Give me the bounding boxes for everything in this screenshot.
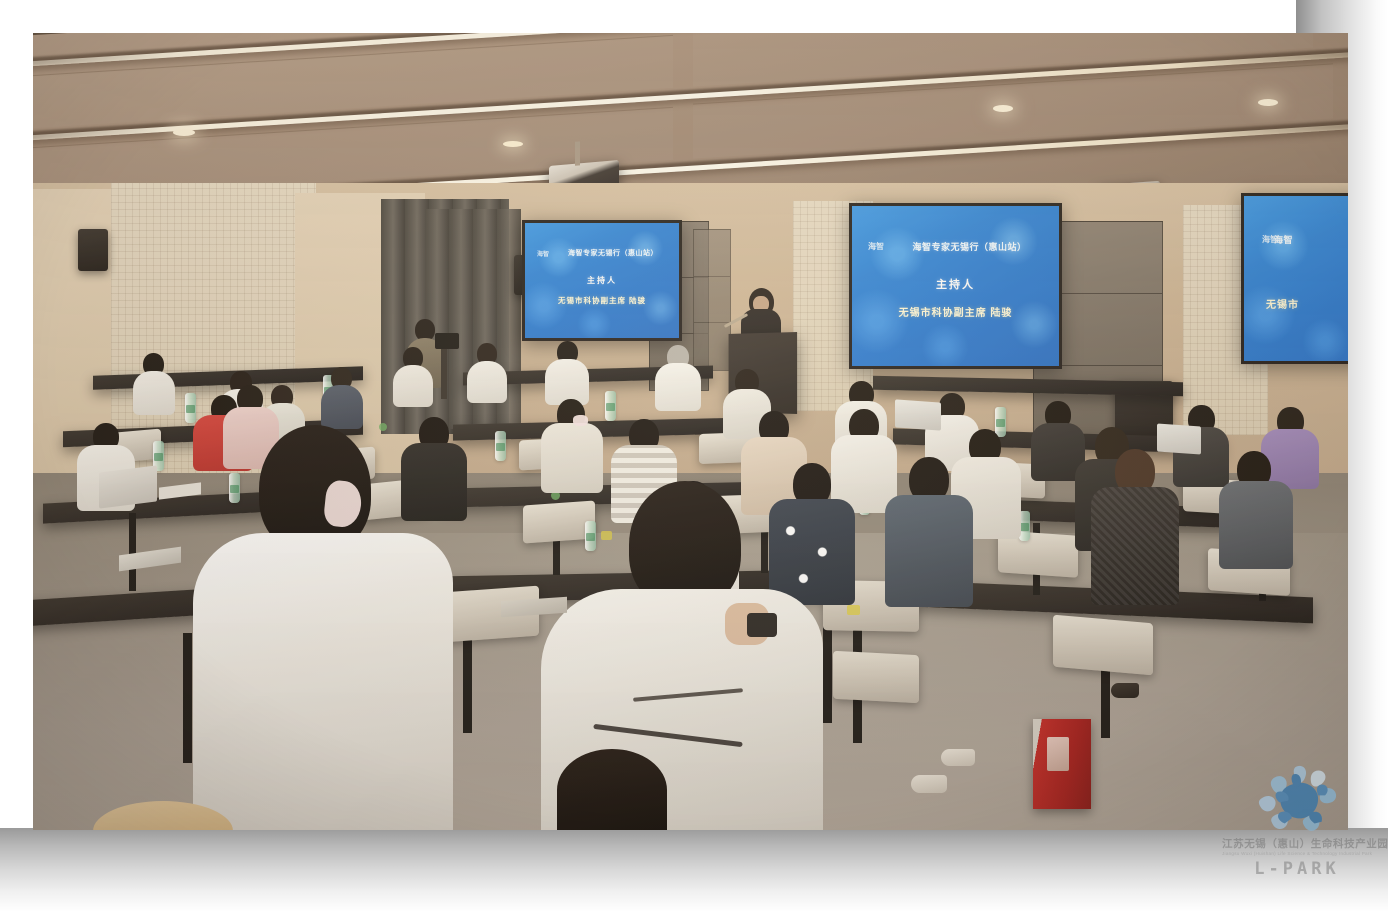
screen-presenter-name: 无锡市科协副主席 陆骏 xyxy=(852,304,1059,319)
watermark-brand: L-PARK xyxy=(1222,859,1372,880)
water-bottle xyxy=(495,431,506,461)
chair-back xyxy=(1053,615,1153,676)
screen-title: 海智专家无锡行（惠山站） xyxy=(852,240,1059,253)
laptop xyxy=(1157,423,1201,454)
face-mask xyxy=(573,415,588,426)
seat-number-sticker xyxy=(379,423,387,431)
screen-presenter-name: 无锡市科协副主席 陆骏 xyxy=(525,295,679,306)
ceiling-downlight xyxy=(503,141,523,147)
water-bottle xyxy=(229,473,240,503)
ceiling-downlight xyxy=(1258,99,1278,106)
shoe xyxy=(941,749,975,766)
watermark-name-en: Jiangsu Wuxi (Huishan) Life Science & Te… xyxy=(1222,850,1372,857)
wall-speaker xyxy=(78,229,108,271)
water-bottle xyxy=(585,521,596,551)
water-bottle xyxy=(605,391,616,421)
projection-screen-right: 海智 海智 无锡市 xyxy=(1241,193,1348,364)
watermark-logo-block: 江苏无锡（惠山）生命科技产业园 Jiangsu Wuxi (Huishan) L… xyxy=(1222,762,1372,894)
splash-star-logo-icon xyxy=(1253,762,1341,834)
water-bottle xyxy=(995,407,1006,437)
projection-screen-center: 海智 海智专家无锡行（惠山站） 主持人 无锡市科协副主席 陆骏 xyxy=(849,203,1062,369)
bottom-gradient-band xyxy=(0,828,1388,912)
desk-leg xyxy=(183,633,192,763)
wall-panel-dark xyxy=(693,229,731,371)
chair-back xyxy=(833,651,919,704)
seat-number-sticker xyxy=(847,605,860,615)
screen-role: 主持人 xyxy=(852,276,1059,292)
shopping-bag xyxy=(1033,719,1091,809)
ceiling-downlight xyxy=(173,129,195,136)
ceiling-downlight xyxy=(993,105,1013,112)
phone xyxy=(747,613,777,637)
screen-presenter-name: 无锡市 xyxy=(1244,296,1348,311)
watermark-name-cn: 江苏无锡（惠山）生命科技产业园 xyxy=(1222,838,1372,850)
water-bottle xyxy=(185,393,196,423)
screen-title: 海智专家无锡行（惠山站） xyxy=(525,248,679,258)
projection-screen-left: 海智 海智专家无锡行（惠山站） 主持人 无锡市科协副主席 陆骏 xyxy=(522,220,682,341)
laptop xyxy=(895,399,941,430)
shoe xyxy=(1111,683,1139,698)
screen-role: 主持人 xyxy=(525,275,679,286)
shoe xyxy=(911,775,947,793)
laptop xyxy=(99,465,157,508)
conference-room-photo: 海智 海智专家无锡行（惠山站） 主持人 无锡市科协副主席 陆骏 海智 海智专家无… xyxy=(33,33,1348,830)
seat-number-sticker xyxy=(601,531,612,540)
screen-title: 海智 xyxy=(1244,233,1348,246)
screenshot-root: 海智 海智专家无锡行（惠山站） 主持人 无锡市科协副主席 陆骏 海智 海智专家无… xyxy=(0,0,1388,912)
